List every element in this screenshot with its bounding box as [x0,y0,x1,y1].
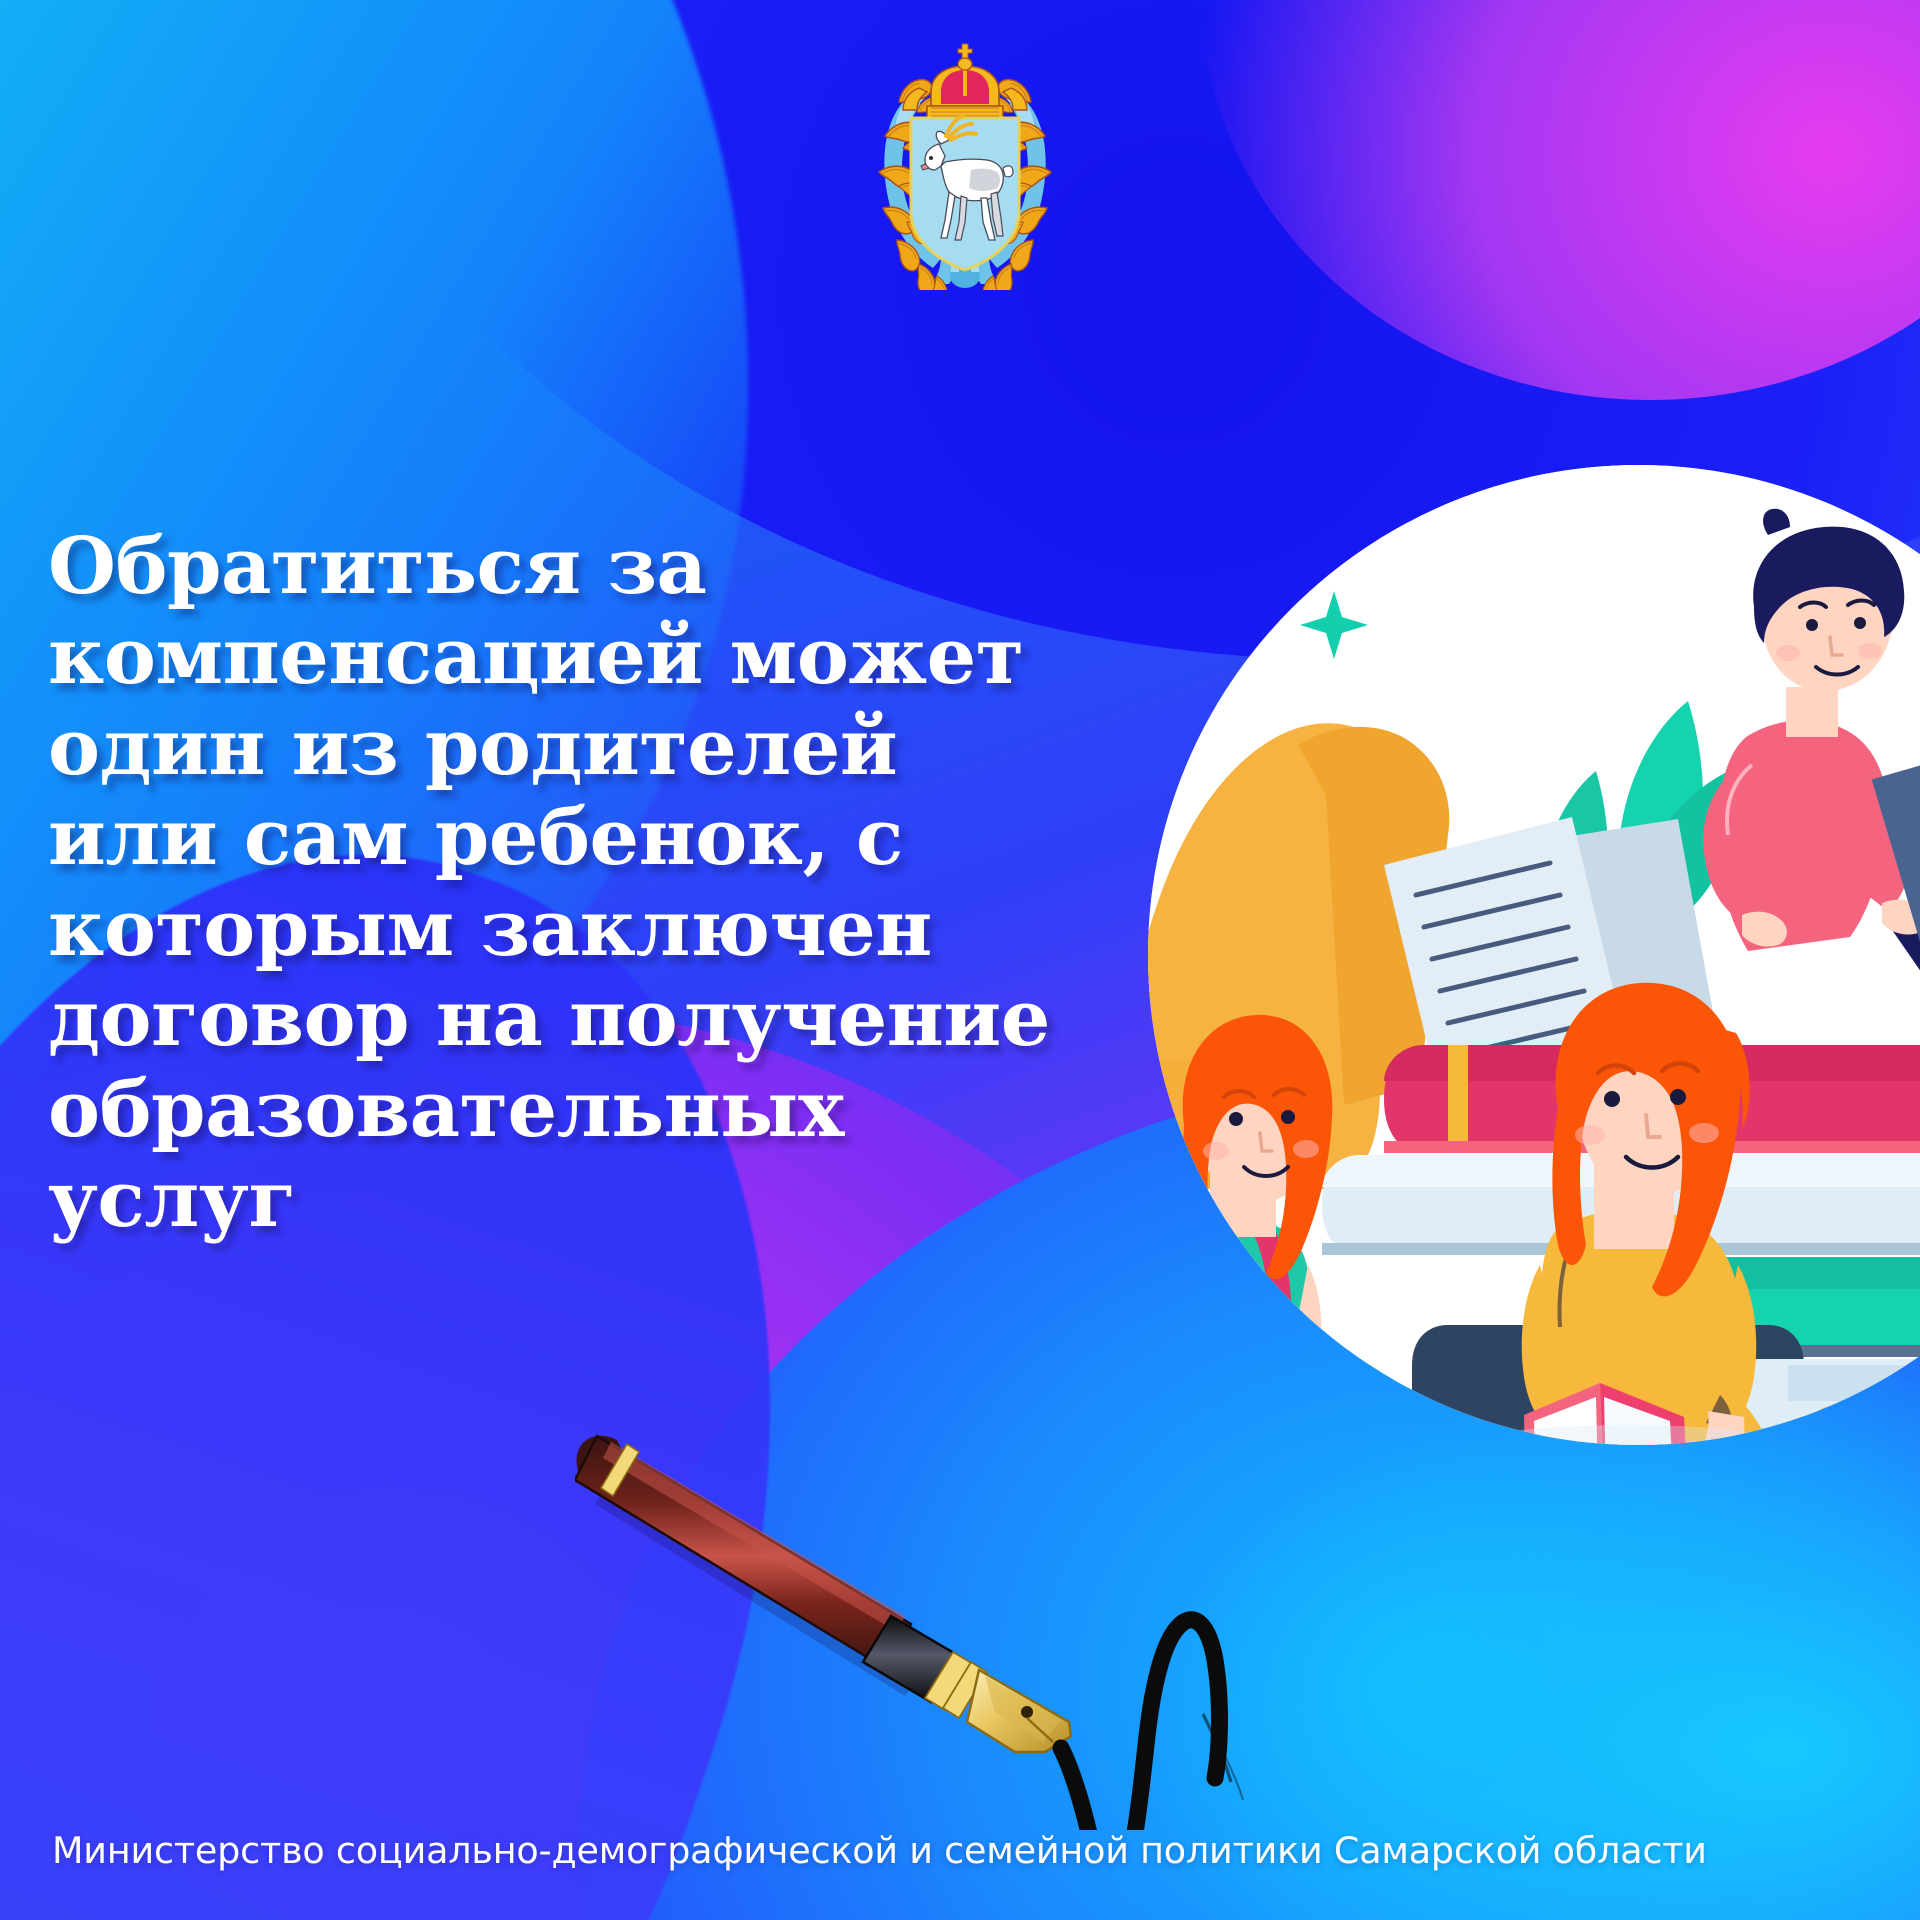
headline-line: Обратиться за [48,522,1098,612]
fountain-pen-illustration [575,1430,1295,1830]
headline-line: компенсацией может [48,612,1098,702]
headline-line: которым заключен [48,884,1098,974]
samara-oblast-coat-of-arms [845,40,1085,290]
headline-line: или сам ребенок, с [48,793,1098,883]
ink-signature-stroke [1061,1620,1243,1830]
page-title: Обратиться за компенсацией может один из… [48,522,1098,1246]
pen-grip [863,1616,987,1718]
pen-barrel [575,1436,911,1668]
headline-line: образовательных услуг [48,1065,1098,1246]
headline-line: один из родителей [48,703,1098,793]
pen-nib [967,1670,1071,1752]
shield [911,116,1019,270]
poster-canvas: Обратиться за компенсацией может один из… [0,0,1920,1920]
ministry-footer-text: Министерство социально-демографической и… [52,1829,1892,1872]
headline-line: договор на получение [48,974,1098,1064]
